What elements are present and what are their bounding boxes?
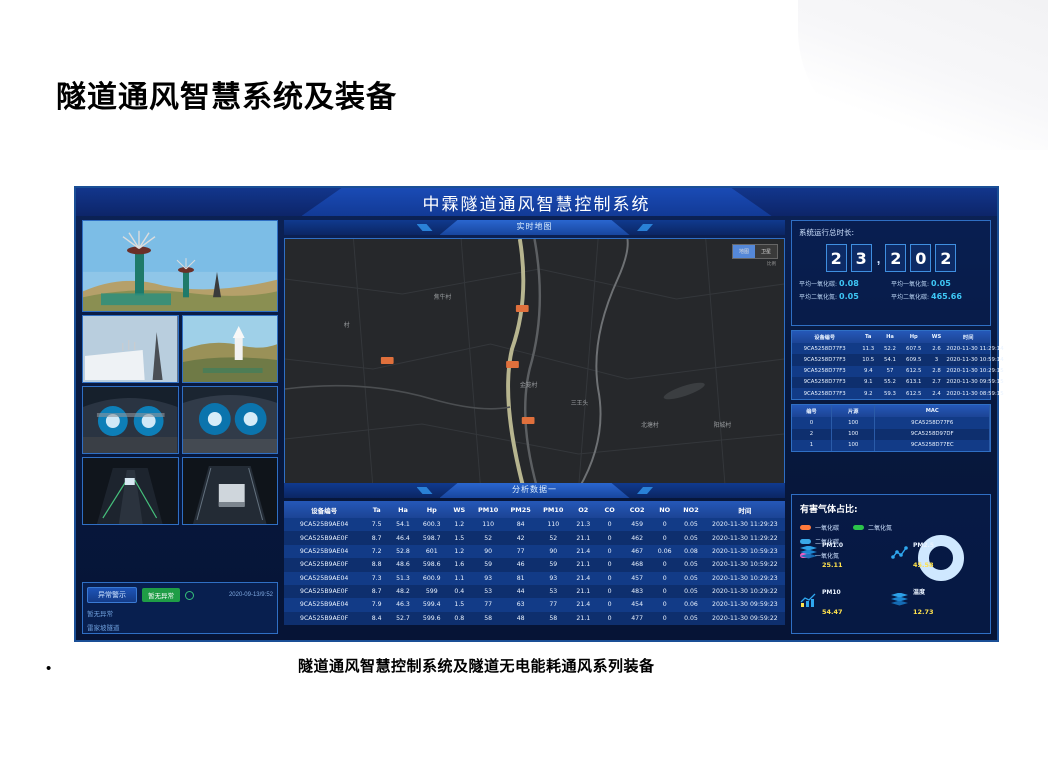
column-header: Ha <box>389 501 417 518</box>
table-cell: 0 <box>597 518 622 531</box>
table-row[interactable]: 9CA525B9AE047.554.1600.31.21108411021.30… <box>284 518 785 531</box>
column-header: NO2 <box>677 501 705 518</box>
table-cell: 462 <box>622 531 652 544</box>
table-row[interactable]: 9CA525B9AE0F8.848.6598.61.659465921.1046… <box>284 558 785 571</box>
table-cell: 598.6 <box>417 558 447 571</box>
table-cell: 2.7 <box>927 377 947 388</box>
table-cell: 9CA5258D77F3 <box>792 377 857 388</box>
table-row[interactable]: 9CA525B9AE0F8.746.4598.71.552425221.1046… <box>284 531 785 544</box>
table-cell: 8.7 <box>364 531 389 544</box>
table-cell: 1 <box>792 440 832 451</box>
column-header: 片源 <box>832 405 875 417</box>
gas-average-item: 平均一氧化碳:0.08 <box>799 279 891 288</box>
svg-text:三王头: 三王头 <box>571 399 589 407</box>
map-panel-caption: 实时地图 <box>284 220 785 235</box>
alarm-warning-button[interactable]: 异常警示 <box>87 587 137 603</box>
table-cell: 81 <box>504 572 537 585</box>
table-cell: 46.4 <box>389 531 417 544</box>
table-cell: 0.05 <box>677 612 705 625</box>
table-cell: 9CA525B9AE0F <box>284 531 364 544</box>
dashboard-title: 中霖隧道通风智慧控制系统 <box>423 190 651 215</box>
bar-chart-icon <box>800 593 817 608</box>
table-cell: 2 <box>792 429 832 440</box>
table-cell: 52 <box>472 531 505 544</box>
alarm-line-1: 暂无异常 <box>87 608 273 618</box>
table-cell: 0.8 <box>447 612 472 625</box>
table-cell: 9.4 <box>857 366 879 377</box>
svg-text:村: 村 <box>344 321 350 329</box>
gas-average-item: 平均二氧化氮:0.05 <box>799 292 891 301</box>
caption-decoration-right <box>637 224 653 231</box>
table-cell: 600.3 <box>417 518 447 531</box>
table-cell: 0 <box>597 612 622 625</box>
table-cell: 9CA5258D77F3 <box>792 354 857 365</box>
column-header: Ta <box>364 501 389 518</box>
live-map-panel[interactable]: 焦牛村 村 金笼村 三王头 北塘村 阳城村 地图 卫星 比例 <box>284 238 785 490</box>
column-header: PM25 <box>504 501 537 518</box>
svg-text:北塘村: 北塘村 <box>641 421 659 429</box>
map-scale-label: 比例 <box>767 261 776 267</box>
table-cell: 609.5 <box>901 354 927 365</box>
table-cell: 3 <box>927 354 947 365</box>
table-cell: 2020-11-30 10:59:23 <box>705 545 785 558</box>
table-cell: 58 <box>537 612 570 625</box>
metric-value: 25.11 <box>822 561 843 569</box>
photo-column: 异常警示 暂无异常 2020-09-13/9:52 暂无异常 雷家坡隧道 <box>82 220 278 634</box>
runtime-digit: 3 <box>851 244 872 272</box>
column-header: NO <box>652 501 677 518</box>
table-cell: 7.9 <box>364 598 389 611</box>
table-cell: 2020-11-30 09:59:23 <box>705 598 785 611</box>
table-cell: 2020-11-30 10:59:14 <box>946 354 990 365</box>
table-cell: 21.3 <box>570 518 598 531</box>
table-cell: 1.1 <box>447 572 472 585</box>
table-cell: 44 <box>504 585 537 598</box>
map-panel-title: 实时地图 <box>517 221 553 232</box>
table-cell: 10.5 <box>857 354 879 365</box>
tower-hilltop-photo <box>82 220 278 312</box>
table-cell: 21.1 <box>570 612 598 625</box>
runtime-digits: 23,202 <box>799 244 983 272</box>
sensor-readings-table: 设备编号TaHaHpWS时间 9CA5258D77F311.352.2607.5… <box>792 331 990 399</box>
table-cell: 54.1 <box>879 354 901 365</box>
caption-decoration-left <box>417 224 433 231</box>
table-cell: 93 <box>537 572 570 585</box>
runtime-digit: 2 <box>885 244 906 272</box>
metric-value: 12.73 <box>913 608 934 616</box>
table-cell: 100 <box>832 429 875 440</box>
table-cell: 0.08 <box>677 545 705 558</box>
table-cell: 51.3 <box>389 572 417 585</box>
gas-panel-title: 有害气体占比: <box>800 502 982 515</box>
metric-value: 45.58 <box>913 561 934 569</box>
table-cell: 48.6 <box>389 558 417 571</box>
legend-item[interactable]: 一氧化碳 <box>800 523 839 532</box>
table-cell: 9CA5258D77F6 <box>875 417 990 428</box>
legend-label: 一氧化碳 <box>815 523 839 532</box>
legend-color-dot <box>853 525 864 530</box>
tunnel-fans-left-photo <box>82 386 179 454</box>
table-row[interactable]: 9CA5258D77F39.155.2613.12.72020-11-30 09… <box>792 377 990 388</box>
table-cell: 21.4 <box>570 545 598 558</box>
table-cell: 600.9 <box>417 572 447 585</box>
table-cell: 100 <box>832 440 875 451</box>
table-cell: 59 <box>472 558 505 571</box>
table-header-row: 设备编号TaHaHpWS时间 <box>792 331 990 343</box>
column-header: CO2 <box>622 501 652 518</box>
legend-label: 二氧化氮 <box>868 523 892 532</box>
column-header: WS <box>927 331 947 343</box>
table-cell: 2020-11-30 10:29:22 <box>705 585 785 598</box>
table-cell: 21.4 <box>570 598 598 611</box>
gas-average-value: 0.05 <box>931 279 951 288</box>
table-cell: 8.4 <box>364 612 389 625</box>
table-row[interactable]: 9CA5258D77F39.259.3612.52.42020-11-30 08… <box>792 388 990 399</box>
table-cell: 52 <box>537 531 570 544</box>
table-cell: 9CA525B9AE0F <box>284 612 364 625</box>
column-header: PM10 <box>472 501 505 518</box>
column-header: 时间 <box>946 331 990 343</box>
table-cell: 77 <box>472 598 505 611</box>
table-cell: 84 <box>504 518 537 531</box>
table-cell: 100 <box>832 417 875 428</box>
table-cell: 0.4 <box>447 585 472 598</box>
gas-average-label: 平均二氧化碳: <box>891 294 929 301</box>
table-cell: 9CA525B9AE0F <box>284 558 364 571</box>
table-cell: 599.6 <box>417 612 447 625</box>
column-header: Ha <box>879 331 901 343</box>
table-cell: 0 <box>652 585 677 598</box>
table-cell: 46 <box>504 558 537 571</box>
alarm-timestamp: 2020-09-13/9:52 <box>229 592 273 598</box>
table-cell: 0 <box>652 558 677 571</box>
gas-average-value: 465.66 <box>931 292 962 301</box>
location-icon <box>185 591 194 600</box>
map-toggle-satellite[interactable]: 卫星 <box>755 245 777 258</box>
table-cell: 454 <box>622 598 652 611</box>
table-cell: 0 <box>597 585 622 598</box>
data-table-panel: 分析数据一 设备编号TaHaHpWSPM10PM25PM10O2COCO2NON… <box>284 483 785 634</box>
map-type-toggle[interactable]: 地图 卫星 <box>732 244 778 259</box>
caption-bullet: • <box>46 660 51 677</box>
table-cell: 9CA5258D77F3 <box>792 366 857 377</box>
metric-name: 温度 <box>913 589 925 596</box>
data-panel-title: 分析数据一 <box>512 484 557 495</box>
table-cell: 9.1 <box>857 377 879 388</box>
column-header: Ta <box>857 331 879 343</box>
table-cell: 601 <box>417 545 447 558</box>
gas-average-item: 平均二氧化碳:465.66 <box>891 292 983 301</box>
column-header: 时间 <box>705 501 785 518</box>
column-header: 设备编号 <box>792 331 857 343</box>
table-cell: 9CA525B9AE04 <box>284 598 364 611</box>
metric-name: PM10 <box>822 589 841 596</box>
gas-average-item: 平均一氧化氮:0.05 <box>891 279 983 288</box>
table-cell: 598.7 <box>417 531 447 544</box>
gas-average-label: 平均一氧化氮: <box>891 281 929 288</box>
table-cell: 93 <box>472 572 505 585</box>
page-title: 隧道通风智慧系统及装备 <box>56 72 397 116</box>
table-cell: 7.2 <box>364 545 389 558</box>
table-cell: 0.05 <box>677 572 705 585</box>
table-cell: 613.1 <box>901 377 927 388</box>
table-cell: 607.5 <box>901 343 927 354</box>
table-cell: 53 <box>537 585 570 598</box>
tunnel-fans-right-photo <box>182 386 279 454</box>
alarm-panel: 异常警示 暂无异常 2020-09-13/9:52 暂无异常 雷家坡隧道 <box>82 582 278 634</box>
table-cell: 21.1 <box>570 585 598 598</box>
table-cell: 57 <box>879 366 901 377</box>
table-cell: 9CA5258D77F3 <box>792 388 857 399</box>
table-cell: 7.5 <box>364 518 389 531</box>
column-header: Hp <box>901 331 927 343</box>
table-cell: 53 <box>472 585 505 598</box>
map-toggle-map[interactable]: 地图 <box>733 245 755 258</box>
table-cell: 1.5 <box>447 531 472 544</box>
metric-value: 54.47 <box>822 608 843 616</box>
table-cell: 457 <box>622 572 652 585</box>
table-cell: 0 <box>597 545 622 558</box>
table-cell: 2020-11-30 10:29:15 <box>946 366 990 377</box>
table-cell: 468 <box>622 558 652 571</box>
table-cell: 9CA5258D77EC <box>875 440 990 451</box>
table-cell: 0.06 <box>652 545 677 558</box>
table-cell: 599 <box>417 585 447 598</box>
caption-decoration-right <box>637 487 653 494</box>
pm-metrics: PM1.025.11PM2.545.58PM1054.47温度12.73 <box>800 533 982 627</box>
runtime-panel: 系统运行总时长: 23,202 平均一氧化碳:0.08平均一氧化氮:0.05平均… <box>791 220 991 326</box>
table-cell: 42 <box>504 531 537 544</box>
metric-name: PM1.0 <box>822 542 843 549</box>
table-cell: 2020-11-30 09:59:15 <box>946 377 990 388</box>
runtime-label: 系统运行总时长: <box>799 227 983 238</box>
table-cell: 63 <box>504 598 537 611</box>
svg-text:焦牛村: 焦牛村 <box>434 293 452 301</box>
digit-separator: , <box>876 251 882 266</box>
table-cell: 0.05 <box>677 531 705 544</box>
table-cell: 7.3 <box>364 572 389 585</box>
table-cell: 2020-11-30 11:29:23 <box>705 518 785 531</box>
legend-row: 一氧化碳二氧化氮 <box>800 523 982 532</box>
table-row[interactable]: 9CA525B9AE0F8.748.25990.453445321.104830… <box>284 585 785 598</box>
table-cell: 2.4 <box>927 388 947 399</box>
column-header: CO <box>597 501 622 518</box>
table-cell: 0.05 <box>677 558 705 571</box>
table-cell: 0 <box>597 598 622 611</box>
table-cell: 612.5 <box>901 388 927 399</box>
table-row[interactable]: 9CA525B9AE047.252.86011.290779021.404670… <box>284 545 785 558</box>
column-header: PM10 <box>537 501 570 518</box>
svg-text:金笼村: 金笼村 <box>520 381 538 389</box>
column-header: 设备编号 <box>284 501 364 518</box>
table-cell: 0 <box>652 518 677 531</box>
table-cell: 8.7 <box>364 585 389 598</box>
caption-decoration-left <box>417 487 433 494</box>
table-cell: 1.6 <box>447 558 472 571</box>
runtime-digit: 2 <box>935 244 956 272</box>
dashboard-header: 中霖隧道通风智慧控制系统 <box>76 188 997 216</box>
pm-metric: 温度12.73 <box>891 580 982 620</box>
table-cell: 77 <box>537 598 570 611</box>
table-cell: 52.7 <box>389 612 417 625</box>
table-cell: 0 <box>652 612 677 625</box>
table-cell: 11.3 <box>857 343 879 354</box>
table-cell: 0.05 <box>677 585 705 598</box>
table-cell: 612.5 <box>901 366 927 377</box>
legend-color-dot <box>800 525 811 530</box>
dashboard-window: 中霖隧道通风智慧控制系统 <box>74 186 999 642</box>
pm-metric: PM1054.47 <box>800 580 891 620</box>
table-cell: 9CA525B9AE04 <box>284 572 364 585</box>
table-cell: 9CA525B9AE0F <box>284 585 364 598</box>
table-cell: 77 <box>504 545 537 558</box>
table-cell: 1.5 <box>447 598 472 611</box>
table-cell: 58 <box>472 612 505 625</box>
gas-average-grid: 平均一氧化碳:0.08平均一氧化氮:0.05平均二氧化氮:0.05平均二氧化碳:… <box>799 279 983 305</box>
layers-icon <box>891 593 908 608</box>
map-canvas[interactable]: 焦牛村 村 金笼村 三王头 北塘村 阳城村 <box>285 239 784 489</box>
table-cell: 0 <box>597 558 622 571</box>
table-row[interactable]: 9CA5258D77F39.457612.52.82020-11-30 10:2… <box>792 366 990 377</box>
table-row[interactable]: 21009CA5258D97DF <box>792 429 990 440</box>
table-cell: 477 <box>622 612 652 625</box>
legend-item[interactable]: 二氧化氮 <box>853 523 892 532</box>
mac-table: 编号片源MAC 01009CA5258D77F621009CA5258D97DF… <box>792 405 990 451</box>
table-cell: 110 <box>537 518 570 531</box>
table-row[interactable]: 9CA5258D77F311.352.2607.52.62020-11-30 1… <box>792 343 990 354</box>
table-cell: 59.3 <box>879 388 901 399</box>
table-cell: 2020-11-30 10:29:23 <box>705 572 785 585</box>
runtime-digit: 0 <box>910 244 931 272</box>
gas-average-label: 平均一氧化碳: <box>799 281 837 288</box>
gas-ratio-panel: 有害气体占比: 一氧化碳二氧化氮二氧化碳一氧化氮 PM1.025.11PM2.5… <box>791 494 991 634</box>
slide-corner-decoration <box>798 0 1048 150</box>
pm-metric: PM2.545.58 <box>891 533 982 573</box>
table-cell: 9CA5258D77F3 <box>792 343 857 354</box>
table-cell: 2020-11-30 11:29:14 <box>946 343 990 354</box>
sensor-readings-panel: 设备编号TaHaHpWS时间 9CA5258D77F311.352.2607.5… <box>791 330 991 400</box>
table-cell: 52.2 <box>879 343 901 354</box>
column-header: Hp <box>417 501 447 518</box>
table-header-row: 设备编号TaHaHpWSPM10PM25PM10O2COCO2NONO2时间 <box>284 501 785 518</box>
column-header: 编号 <box>792 405 832 417</box>
table-cell: 55.2 <box>879 377 901 388</box>
table-cell: 46.3 <box>389 598 417 611</box>
table-cell: 2.6 <box>927 343 947 354</box>
table-cell: 54.1 <box>389 518 417 531</box>
table-cell: 1.2 <box>447 545 472 558</box>
table-cell: 21.4 <box>570 572 598 585</box>
table-row[interactable]: 9CA5258D77F310.554.1609.532020-11-30 10:… <box>792 354 990 365</box>
layers-icon <box>800 546 817 561</box>
status-badge: 暂无异常 <box>142 588 180 602</box>
table-cell: 8.8 <box>364 558 389 571</box>
table-row[interactable]: 9CA525B9AE0F8.452.7599.60.858485821.1047… <box>284 612 785 625</box>
table-cell: 48 <box>504 612 537 625</box>
table-cell: 9CA525B9AE04 <box>284 518 364 531</box>
scatter-icon <box>891 546 908 561</box>
table-cell: 0 <box>597 572 622 585</box>
table-cell: 483 <box>622 585 652 598</box>
table-cell: 599.4 <box>417 598 447 611</box>
table-cell: 2020-11-30 10:59:22 <box>705 558 785 571</box>
table-cell: 2020-11-30 11:29:22 <box>705 531 785 544</box>
white-tower-photo <box>182 315 279 383</box>
gas-average-label: 平均二氧化氮: <box>799 294 837 301</box>
right-column: 系统运行总时长: 23,202 平均一氧化碳:0.08平均一氧化氮:0.05平均… <box>791 220 991 634</box>
table-cell: 0 <box>652 572 677 585</box>
gas-average-value: 0.08 <box>839 279 859 288</box>
table-cell: 467 <box>622 545 652 558</box>
table-cell: 48.2 <box>389 585 417 598</box>
tunnel-road-night-photo <box>82 457 179 525</box>
table-cell: 9CA5258D97DF <box>875 429 990 440</box>
table-row[interactable]: 01009CA5258D77F6 <box>792 417 990 428</box>
pm-metric: PM1.025.11 <box>800 533 891 573</box>
table-cell: 59 <box>537 558 570 571</box>
table-cell: 21.1 <box>570 531 598 544</box>
center-column: 实时地图 <box>284 220 785 634</box>
analysis-data-table: 设备编号TaHaHpWSPM10PM25PM10O2COCO2NONO2时间 9… <box>284 501 785 625</box>
table-cell: 0 <box>597 531 622 544</box>
metric-name: PM2.5 <box>913 542 934 549</box>
runtime-digit: 2 <box>826 244 847 272</box>
data-panel-caption: 分析数据一 <box>284 483 785 498</box>
table-cell: 2020-11-30 09:59:22 <box>705 612 785 625</box>
table-cell: 90 <box>472 545 505 558</box>
column-header: MAC <box>875 405 990 417</box>
tunnel-road-truck-photo <box>182 457 279 525</box>
table-cell: 2020-11-30 08:59:15 <box>946 388 990 399</box>
table-row[interactable]: 11009CA5258D77EC <box>792 440 990 451</box>
column-header: WS <box>447 501 472 518</box>
table-cell: 0.05 <box>677 518 705 531</box>
table-cell: 2.8 <box>927 366 947 377</box>
table-cell: 0.06 <box>677 598 705 611</box>
table-cell: 1.2 <box>447 518 472 531</box>
mac-list-panel: 编号片源MAC 01009CA5258D77F621009CA5258D97DF… <box>791 404 991 452</box>
tarp-tower-photo <box>82 315 179 383</box>
table-cell: 9CA525B9AE04 <box>284 545 364 558</box>
table-cell: 0 <box>652 598 677 611</box>
table-row[interactable]: 9CA525B9AE047.946.3599.41.577637721.4045… <box>284 598 785 611</box>
table-cell: 110 <box>472 518 505 531</box>
column-header: O2 <box>570 501 598 518</box>
table-cell: 0 <box>652 531 677 544</box>
table-cell: 459 <box>622 518 652 531</box>
gas-average-value: 0.05 <box>839 292 859 301</box>
alarm-line-2: 雷家坡隧道 <box>87 622 273 632</box>
table-cell: 52.8 <box>389 545 417 558</box>
table-header-row: 编号片源MAC <box>792 405 990 417</box>
table-cell: 21.1 <box>570 558 598 571</box>
table-cell: 0 <box>792 417 832 428</box>
slide-caption: 隧道通风智慧控制系统及隧道无电能耗通风系列装备 <box>298 655 655 676</box>
table-cell: 9.2 <box>857 388 879 399</box>
svg-text:阳城村: 阳城村 <box>714 421 732 429</box>
table-cell: 90 <box>537 545 570 558</box>
table-row[interactable]: 9CA525B9AE047.351.3600.91.193819321.4045… <box>284 572 785 585</box>
